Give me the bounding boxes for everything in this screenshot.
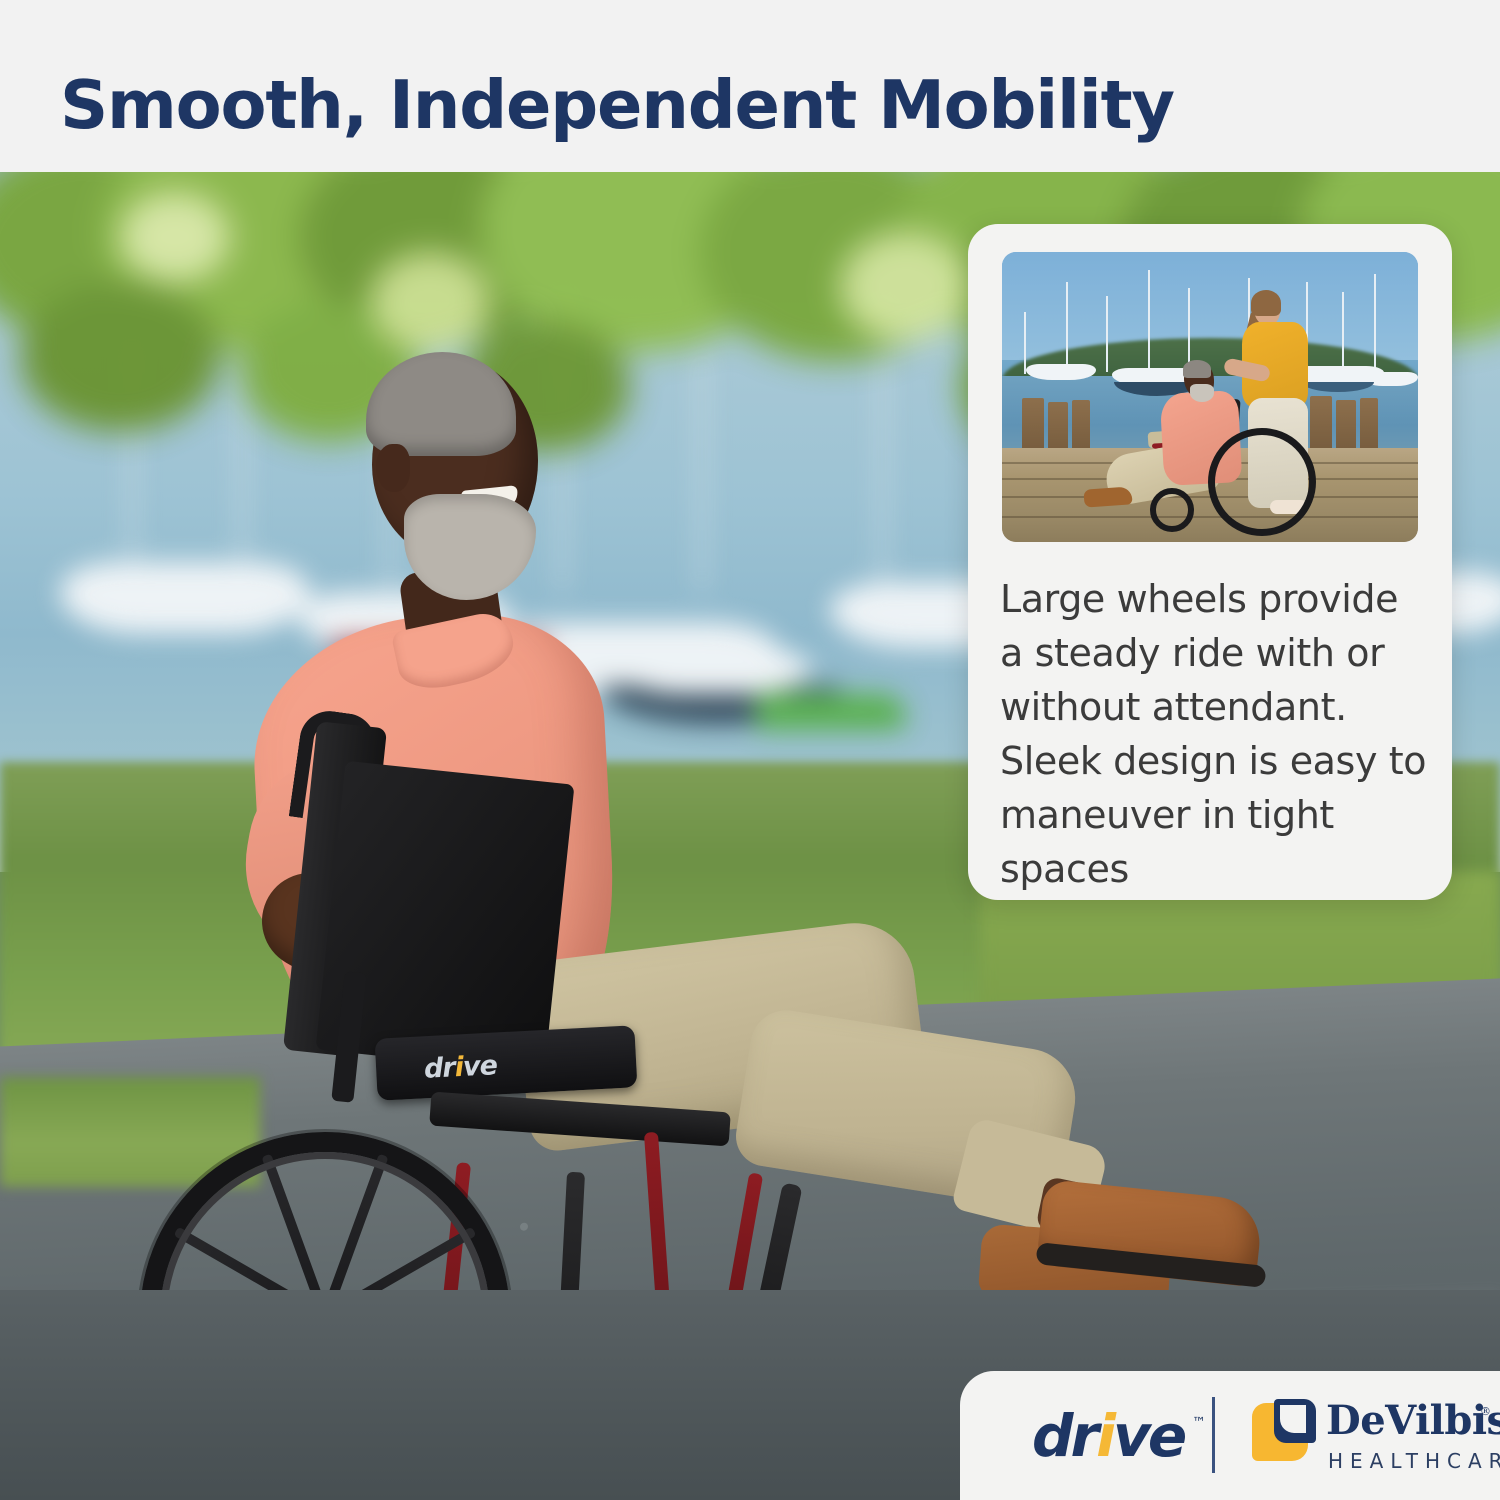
armrest-logo-dr: dr (423, 1052, 455, 1085)
armrest-drive-logo: drive (423, 1050, 497, 1085)
inset-front-caster (1150, 488, 1194, 532)
feature-callout-card: drive Large wheels provide a steady ride… (968, 224, 1452, 900)
drive-logo-ve: ve (1113, 1402, 1184, 1470)
drive-logo-dot: i (1096, 1402, 1113, 1470)
brand-logo-banner: drive ™ DeVilbiss ® HEALTHCARE (960, 1371, 1500, 1500)
inset-rider-shoe (1083, 486, 1132, 507)
seat-rail (429, 1092, 731, 1147)
feature-description: Large wheels provide a steady ride with … (1000, 572, 1430, 896)
inset-large-wheel (1208, 428, 1316, 536)
drive-logo: drive (1032, 1407, 1184, 1465)
inset-rider-hair (1183, 360, 1211, 378)
devilbiss-registered-symbol: ® (1480, 1405, 1491, 1418)
devilbiss-logo-mark (1252, 1399, 1318, 1465)
inset-attendant-hair (1251, 290, 1281, 316)
devilbiss-subtitle: HEALTHCARE (1328, 1449, 1500, 1473)
armrest-pad (375, 1025, 638, 1101)
devilbiss-wordmark: DeVilbiss (1326, 1401, 1500, 1441)
drive-logo-dr: dr (1032, 1402, 1096, 1470)
inset-photo: drive (1002, 252, 1418, 542)
header-band: Smooth, Independent Mobility (0, 0, 1500, 172)
marketing-image-canvas: Smooth, Independent Mobility (0, 0, 1500, 1500)
armrest-logo-ve: ve (462, 1050, 497, 1083)
inset-rider-beard (1190, 384, 1214, 402)
page-title: Smooth, Independent Mobility (60, 66, 1174, 144)
logo-divider (1212, 1397, 1215, 1473)
drive-trademark-symbol: ™ (1192, 1415, 1206, 1431)
devilbiss-mark-notch (1280, 1405, 1306, 1433)
